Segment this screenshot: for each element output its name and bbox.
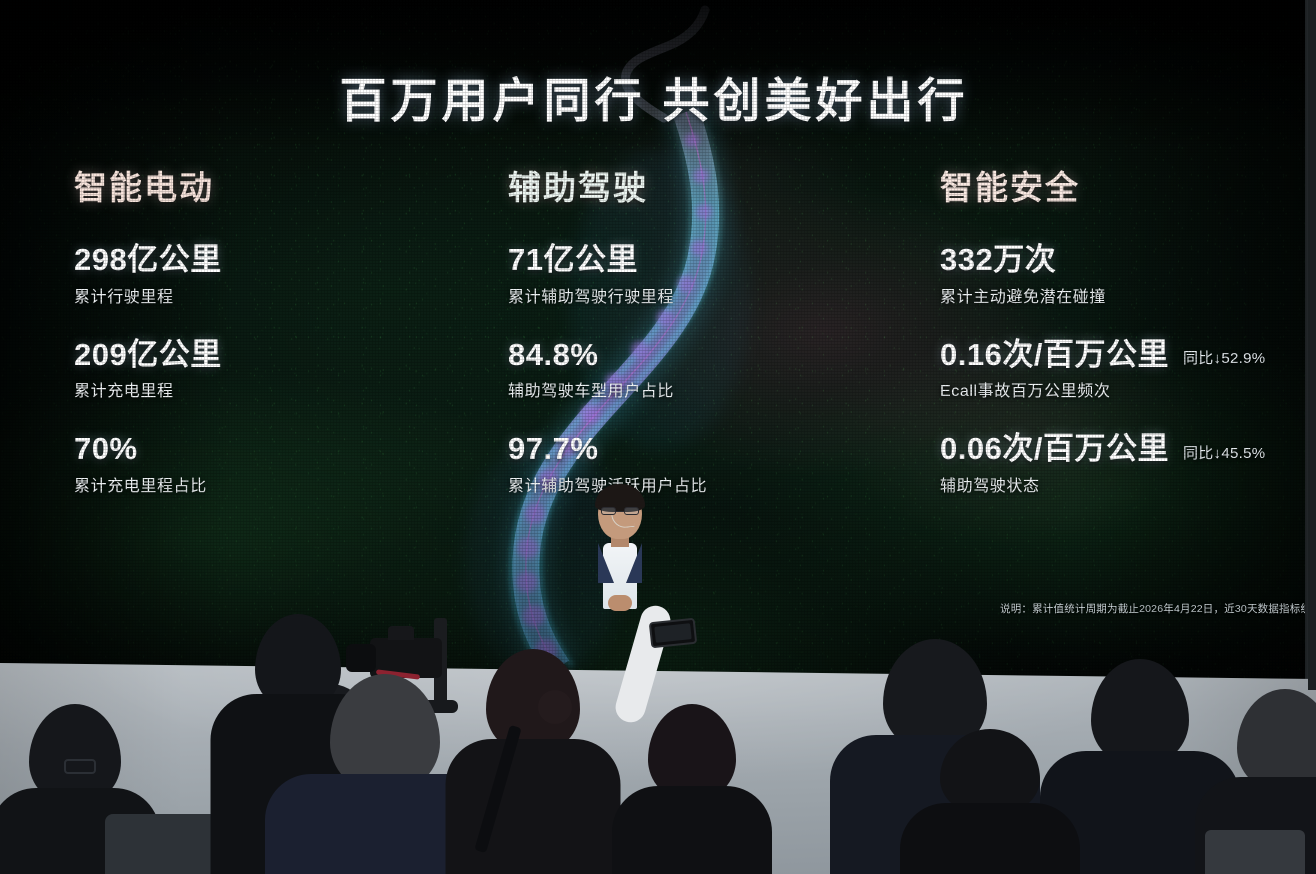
metric-label: 辅助驾驶车型用户占比 <box>508 377 908 401</box>
audience-body <box>900 803 1080 874</box>
audience-head <box>1237 689 1316 791</box>
metric-item: 298亿公里 累计行驶里程 <box>74 242 474 307</box>
metric-value: 71亿公里 <box>508 242 638 279</box>
metric-label: 累计主动避免潜在碰撞 <box>940 283 1308 307</box>
metric-value: 84.8% <box>508 337 598 374</box>
presenter-hands <box>608 595 632 611</box>
metric-label: 累计辅助驾驶行驶里程 <box>508 283 908 307</box>
metric-delta: 同比↓52.9% <box>1183 347 1265 373</box>
metric-label: 累计充电里程占比 <box>74 472 474 496</box>
metric-item: 0.16次/百万公里 同比↓52.9% Ecall事故百万公里频次 <box>940 337 1308 402</box>
wall-edge <box>1308 0 1316 690</box>
metric-label: 辅助驾驶状态 <box>940 472 1308 496</box>
metric-column-assisted-driving: 辅助驾驶 71亿公里 累计辅助驾驶行驶里程 84.8% 辅助驾驶车型用户占比 9… <box>508 170 908 526</box>
metric-item: 70% 累计充电里程占比 <box>74 431 474 496</box>
metric-value: 70% <box>74 431 138 468</box>
audience-body <box>612 786 772 874</box>
column-heading: 智能电动 <box>74 170 474 206</box>
metric-value: 209亿公里 <box>74 337 222 374</box>
metric-label: 累计行驶里程 <box>74 283 474 307</box>
column-heading: 智能安全 <box>940 170 1308 206</box>
metric-value: 332万次 <box>940 242 1056 279</box>
column-heading: 辅助驾驶 <box>508 170 908 206</box>
audience-member <box>900 729 1080 874</box>
chair-back <box>105 814 225 874</box>
audience-body <box>445 739 620 874</box>
audience-member <box>612 704 772 874</box>
metric-label: Ecall事故百万公里频次 <box>940 377 1308 401</box>
smartphone <box>649 618 697 649</box>
metric-item: 332万次 累计主动避免潜在碰撞 <box>940 242 1308 307</box>
metric-column-electric: 智能电动 298亿公里 累计行驶里程 209亿公里 累计充电里程 70% 累计充… <box>74 170 474 526</box>
hair-bun <box>538 690 572 724</box>
audience-head <box>1091 659 1189 765</box>
metric-value: 97.7% <box>508 431 598 468</box>
metric-delta: 同比↓45.5% <box>1183 442 1265 468</box>
glasses-icon <box>64 759 96 774</box>
metric-value: 0.06次/百万公里 <box>940 431 1169 468</box>
metric-item: 71亿公里 累计辅助驾驶行驶里程 <box>508 242 908 307</box>
presenter-lapel-right <box>626 543 642 583</box>
presenter-lapel-left <box>598 543 614 583</box>
metric-value: 298亿公里 <box>74 242 222 279</box>
metric-label: 累计充电里程 <box>74 377 474 401</box>
slide-footnote: 说明：累计值统计周期为截止2026年4月22日，近30天数据指标统计 <box>1000 601 1308 616</box>
metric-item: 209亿公里 累计充电里程 <box>74 337 474 402</box>
camera-viewfinder <box>388 626 414 640</box>
metric-value: 0.16次/百万公里 <box>940 337 1169 374</box>
audience-member <box>445 649 620 874</box>
chair-back <box>1205 830 1305 874</box>
camera-lens-icon <box>346 644 376 672</box>
metric-item: 84.8% 辅助驾驶车型用户占比 <box>508 337 908 402</box>
slide-title: 百万用户同行 共创美好出行 <box>0 62 1308 131</box>
conference-stage-photo: 百万用户同行 共创美好出行 智能电动 298亿公里 累计行驶里程 209亿公里 … <box>0 0 1316 874</box>
metric-column-safety: 智能安全 332万次 累计主动避免潜在碰撞 0.16次/百万公里 同比↓52.9… <box>940 170 1308 526</box>
metric-item: 0.06次/百万公里 同比↓45.5% 辅助驾驶状态 <box>940 431 1308 496</box>
